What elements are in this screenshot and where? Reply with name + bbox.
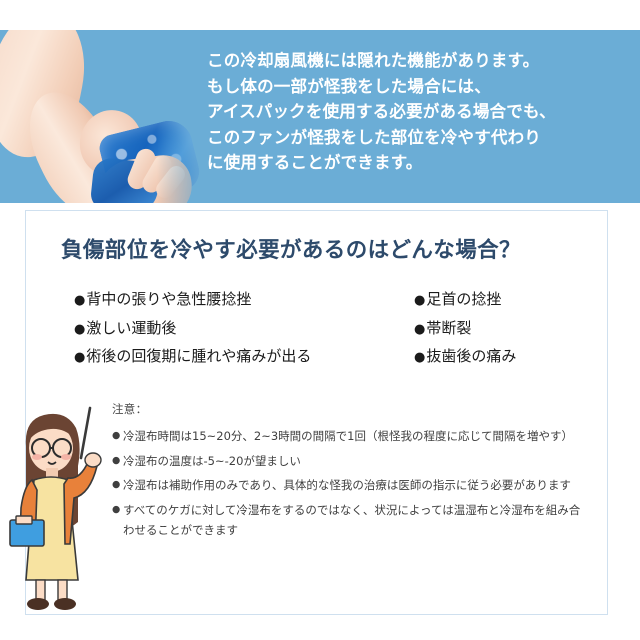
teacher-character-illustration <box>4 404 116 616</box>
hero-line: この冷却扇風機には隠れた機能があります。 <box>207 48 631 74</box>
symptom-item: ●激しい運動後 <box>74 315 311 344</box>
symptom-item: ●術後の回復期に腫れや痛みが出る <box>74 343 311 372</box>
note-item: ● すべてのケガに対して冷湿布をするのではなく、状況によっては温湿布と冷湿布を組… <box>112 500 582 541</box>
symptom-label: 帯断裂 <box>426 319 471 337</box>
notes-block: 注意： ● 冷湿布時間は15~20分、2~3時間の間隔で1回（根怪我の程度に応じ… <box>112 401 582 545</box>
hand-raised-shape <box>85 453 101 467</box>
cheek-blush <box>32 454 42 460</box>
note-text: 冷湿布の温度は-5~-20が望ましい <box>123 454 301 468</box>
symptom-list: ●背中の張りや急性腰捻挫 ●激しい運動後 ●術後の回復期に腫れや痛みが出る ●足… <box>26 286 608 371</box>
hero-line: アイスパックを使用する必要がある場合でも、 <box>207 99 631 125</box>
symptom-item: ●足首の捻挫 <box>414 286 516 315</box>
symptom-item: ●抜歯後の痛み <box>414 343 516 372</box>
hero-line: もし体の一部が怪我をした場合には、 <box>207 74 631 100</box>
hero-line: このファンが怪我をした部位を冷やす代わり <box>207 125 631 151</box>
symptom-label: 激しい運動後 <box>86 319 176 337</box>
arm-with-ice-pack-photo <box>0 30 215 203</box>
symptom-label: 背中の張りや急性腰捻挫 <box>86 290 251 308</box>
pointer-stick-icon <box>81 408 90 458</box>
symptom-label: 抜歯後の痛み <box>426 347 516 365</box>
bullet-icon: ● <box>74 293 85 308</box>
hand-holding-book-shape <box>16 516 32 524</box>
symptom-label: 足首の捻挫 <box>426 290 501 308</box>
note-text: すべてのケガに対して冷湿布をするのではなく、状況によっては温湿布と冷湿布を組み合… <box>123 503 580 538</box>
symptom-item: ●帯断裂 <box>414 315 516 344</box>
bullet-icon: ● <box>74 350 85 365</box>
symptom-column-left: ●背中の張りや急性腰捻挫 ●激しい運動後 ●術後の回復期に腫れや痛みが出る <box>74 286 311 372</box>
shoe-shape <box>54 598 76 610</box>
notes-title: 注意： <box>112 401 582 417</box>
bullet-icon: ● <box>74 322 85 337</box>
bullet-icon: ● <box>414 322 425 337</box>
symptom-column-right: ●足首の捻挫 ●帯断裂 ●抜歯後の痛み <box>414 286 516 372</box>
cheek-blush <box>61 454 71 460</box>
hero-banner: この冷却扇風機には隠れた機能があります。 もし体の一部が怪我をした場合には、 ア… <box>0 30 640 203</box>
note-item: ● 冷湿布は補助作用のみであり、具体的な怪我の治療は医師の指示に従う必要がありま… <box>112 475 582 496</box>
bullet-icon: ● <box>414 350 425 365</box>
symptom-item: ●背中の張りや急性腰捻挫 <box>74 286 311 315</box>
note-text: 冷湿布時間は15~20分、2~3時間の間隔で1回（根怪我の程度に応じて間隔を増や… <box>123 429 573 443</box>
hero-line: に使用することができます。 <box>207 150 631 176</box>
note-item: ● 冷湿布時間は15~20分、2~3時間の間隔で1回（根怪我の程度に応じて間隔を… <box>112 426 582 447</box>
note-text: 冷湿布は補助作用のみであり、具体的な怪我の治療は医師の指示に従う必要があります <box>123 478 571 492</box>
hero-description: この冷却扇風機には隠れた機能があります。 もし体の一部が怪我をした場合には、 ア… <box>207 48 631 176</box>
shoe-shape <box>27 598 49 610</box>
bullet-icon: ● <box>414 293 425 308</box>
symptom-label: 術後の回復期に腫れや痛みが出る <box>86 347 311 365</box>
note-item: ● 冷湿布の温度は-5~-20が望ましい <box>112 451 582 472</box>
card-title: 負傷部位を冷やす必要があるのはどんな場合？ <box>61 233 521 264</box>
